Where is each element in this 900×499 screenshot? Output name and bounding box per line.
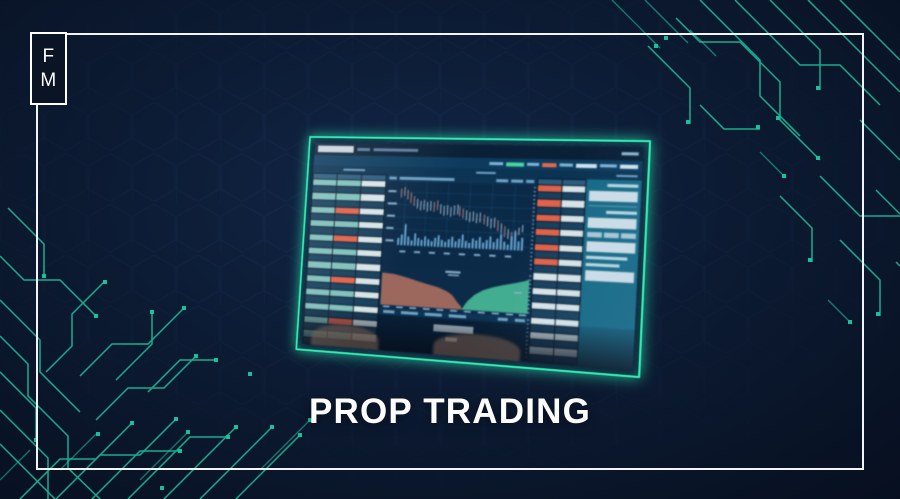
- trading-terminal-monitor: [302, 143, 643, 371]
- ladder-header: [337, 174, 361, 179]
- window-controls[interactable]: [622, 152, 639, 155]
- terminal-screen: [302, 143, 643, 371]
- titlebar-logo-box: [318, 146, 354, 153]
- order-type-limit[interactable]: [604, 233, 619, 239]
- menu-item[interactable]: [357, 148, 370, 151]
- promo-graphic: F M: [0, 0, 900, 499]
- price-input[interactable]: [586, 241, 635, 254]
- symbol-input[interactable]: [589, 191, 638, 203]
- order-type-buttons[interactable]: [587, 232, 636, 239]
- order-summary-line: [586, 256, 628, 261]
- page-title: PROP TRADING: [0, 392, 900, 432]
- logo-letter-f: F: [42, 47, 54, 66]
- ticker-label: [559, 163, 573, 166]
- ticker-label: [527, 163, 539, 166]
- order-type-market[interactable]: [587, 232, 602, 238]
- toolbar-button[interactable]: [616, 175, 637, 178]
- toolbar-button[interactable]: [343, 168, 365, 171]
- order-summary-line: [586, 263, 620, 268]
- fm-logo: F M: [30, 32, 67, 105]
- orderbook-header: [562, 180, 586, 186]
- menu-item[interactable]: [374, 148, 419, 152]
- orderbook-header: [538, 179, 561, 185]
- ticker-value-up: [506, 162, 524, 166]
- ticker-value: [620, 164, 638, 169]
- logo-letter-m: M: [40, 71, 56, 90]
- ticker-label: [489, 162, 503, 165]
- quantity-input[interactable]: [587, 217, 636, 229]
- ticker-value: [576, 163, 597, 168]
- order-type-stop[interactable]: [621, 233, 636, 239]
- candlestick-chart[interactable]: [381, 181, 537, 273]
- quantity-label: [607, 211, 638, 215]
- ladder-header: [314, 174, 337, 179]
- order-panel-title: [608, 184, 639, 188]
- ladder-header: [362, 175, 386, 180]
- ticker-label: [600, 164, 617, 167]
- panel-divider: [589, 205, 638, 208]
